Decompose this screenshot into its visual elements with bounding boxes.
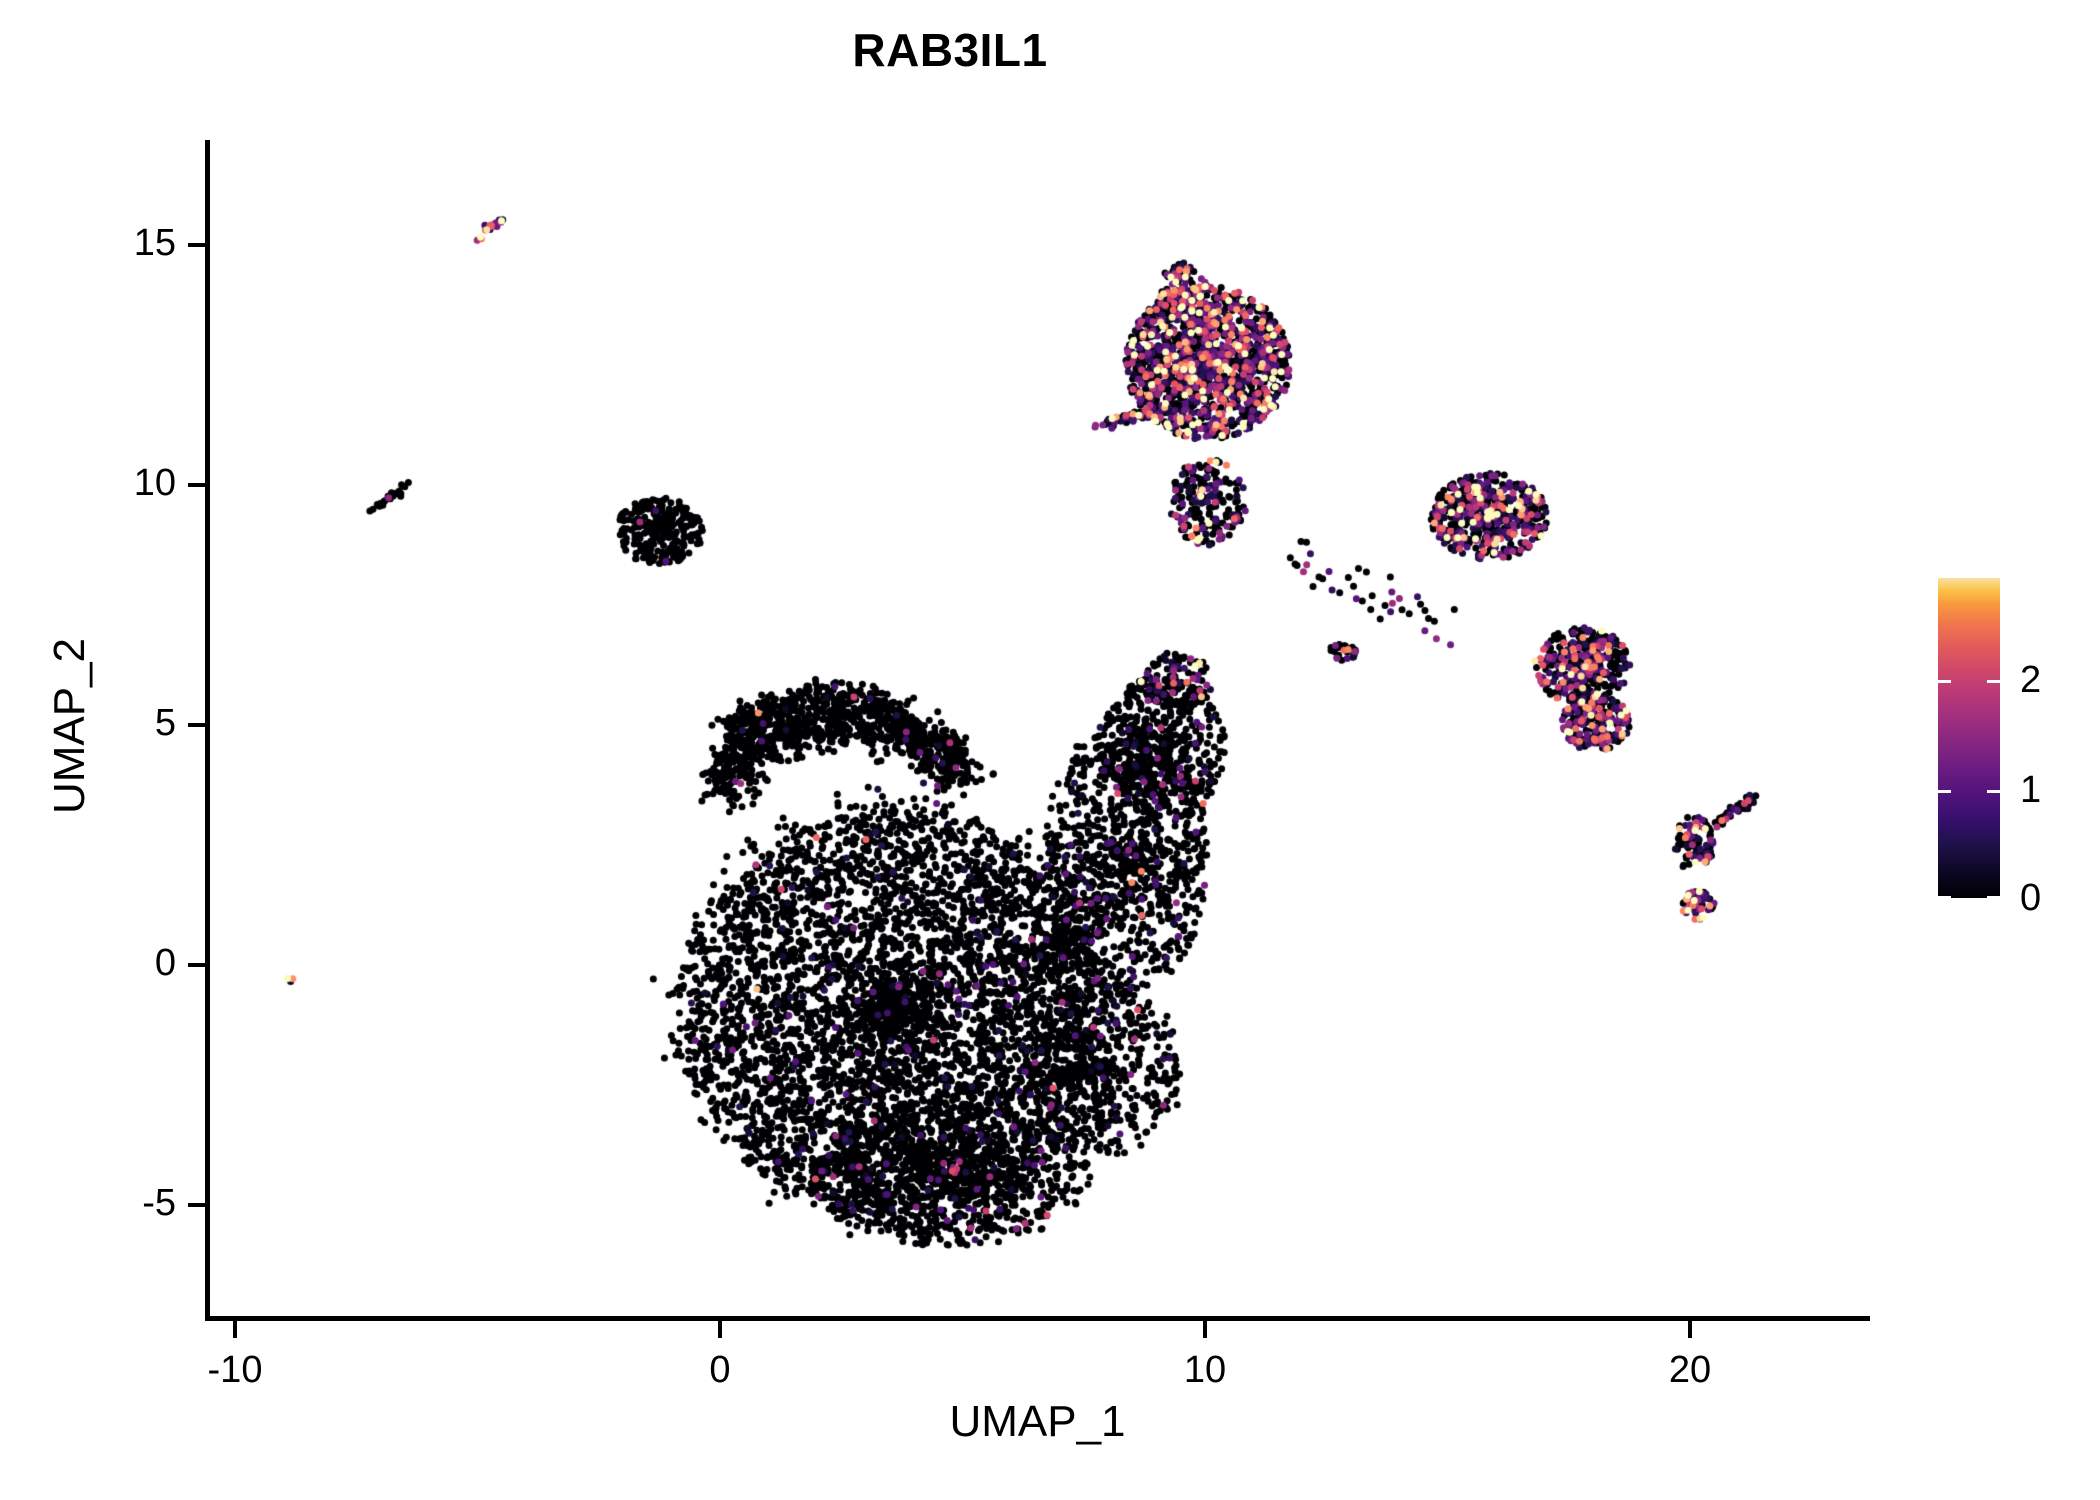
colorbar-gradient [1938, 578, 2000, 898]
y-tick-mark-15 [188, 243, 205, 247]
x-tick-label-0: 0 [620, 1348, 820, 1392]
x-axis-line [205, 1316, 1870, 1321]
y-tick-label-15: 15 [134, 221, 176, 265]
y-axis-title: UMAP_2 [44, 136, 96, 1316]
x-tick-label-neg10: -10 [135, 1348, 335, 1392]
colorbar-tick-1-right [1987, 790, 2000, 793]
y-tick-mark-neg5 [188, 1203, 205, 1207]
x-axis-title: UMAP_1 [205, 1396, 1870, 1448]
y-tick-mark-10 [188, 483, 205, 487]
x-tick-label-10: 10 [1105, 1348, 1305, 1392]
x-tick-mark-neg10 [233, 1321, 237, 1338]
y-tick-label-10: 10 [134, 461, 176, 505]
feature-plot-figure: RAB3IL1 15 10 5 0 -5 -10 0 10 20 UMAP_1 … [0, 0, 2100, 1500]
x-tick-mark-20 [1688, 1321, 1692, 1338]
colorbar-legend: 2 1 0 [1938, 578, 2098, 908]
y-tick-label-5: 5 [155, 701, 176, 745]
colorbar-tick-1-left [1938, 790, 1951, 793]
y-tick-mark-0 [188, 963, 205, 967]
colorbar-label-2: 2 [2020, 658, 2041, 702]
colorbar-label-1: 1 [2020, 768, 2041, 812]
colorbar-tick-0-left [1938, 896, 1951, 899]
colorbar-label-0: 0 [2020, 876, 2041, 920]
scatter-plot-area [0, 0, 2100, 1500]
y-tick-mark-5 [188, 723, 205, 727]
x-tick-mark-10 [1203, 1321, 1207, 1338]
colorbar-tick-2-right [1987, 680, 2000, 683]
y-tick-label-0: 0 [155, 941, 176, 985]
y-axis-line [205, 140, 210, 1320]
y-tick-label-neg5: -5 [142, 1181, 176, 1225]
x-tick-mark-0 [718, 1321, 722, 1338]
colorbar-tick-2-left [1938, 680, 1951, 683]
umap-scatter-canvas [0, 0, 2100, 1500]
colorbar-tick-0-right [1987, 896, 2000, 899]
x-tick-label-20: 20 [1590, 1348, 1790, 1392]
